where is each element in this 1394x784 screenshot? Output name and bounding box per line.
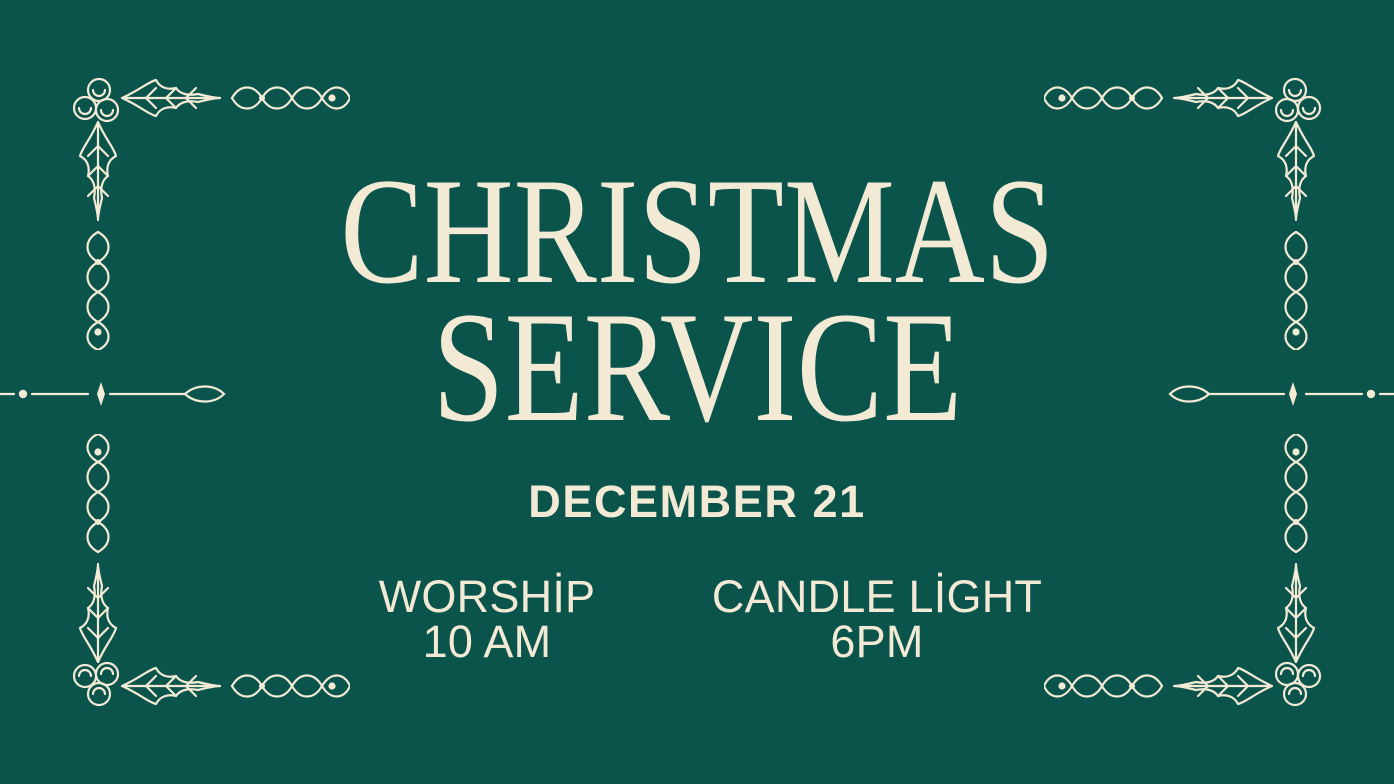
service-time: 6PM (677, 619, 1077, 664)
poster-content: CHRISTMAS SERVICE DECEMBER 21 WORSHİP 10… (0, 0, 1394, 784)
christmas-service-poster: CHRISTMAS SERVICE DECEMBER 21 WORSHİP 10… (0, 0, 1394, 784)
title-line-service: SERVICE (340, 302, 1054, 435)
event-date: DECEMBER 21 (528, 476, 865, 528)
service-slot-worship: WORSHİP 10 AM (317, 574, 657, 664)
service-slot-candle-light: CANDLE LİGHT 6PM (677, 574, 1077, 664)
poster-title: CHRISTMAS SERVICE (262, 168, 1133, 434)
service-time: 10 AM (317, 619, 657, 664)
service-label: WORSHİP (317, 574, 657, 619)
service-times: WORSHİP 10 AM CANDLE LİGHT 6PM (317, 574, 1077, 664)
service-label: CANDLE LİGHT (677, 574, 1077, 619)
title-line-christmas: CHRISTMAS (340, 168, 1054, 296)
